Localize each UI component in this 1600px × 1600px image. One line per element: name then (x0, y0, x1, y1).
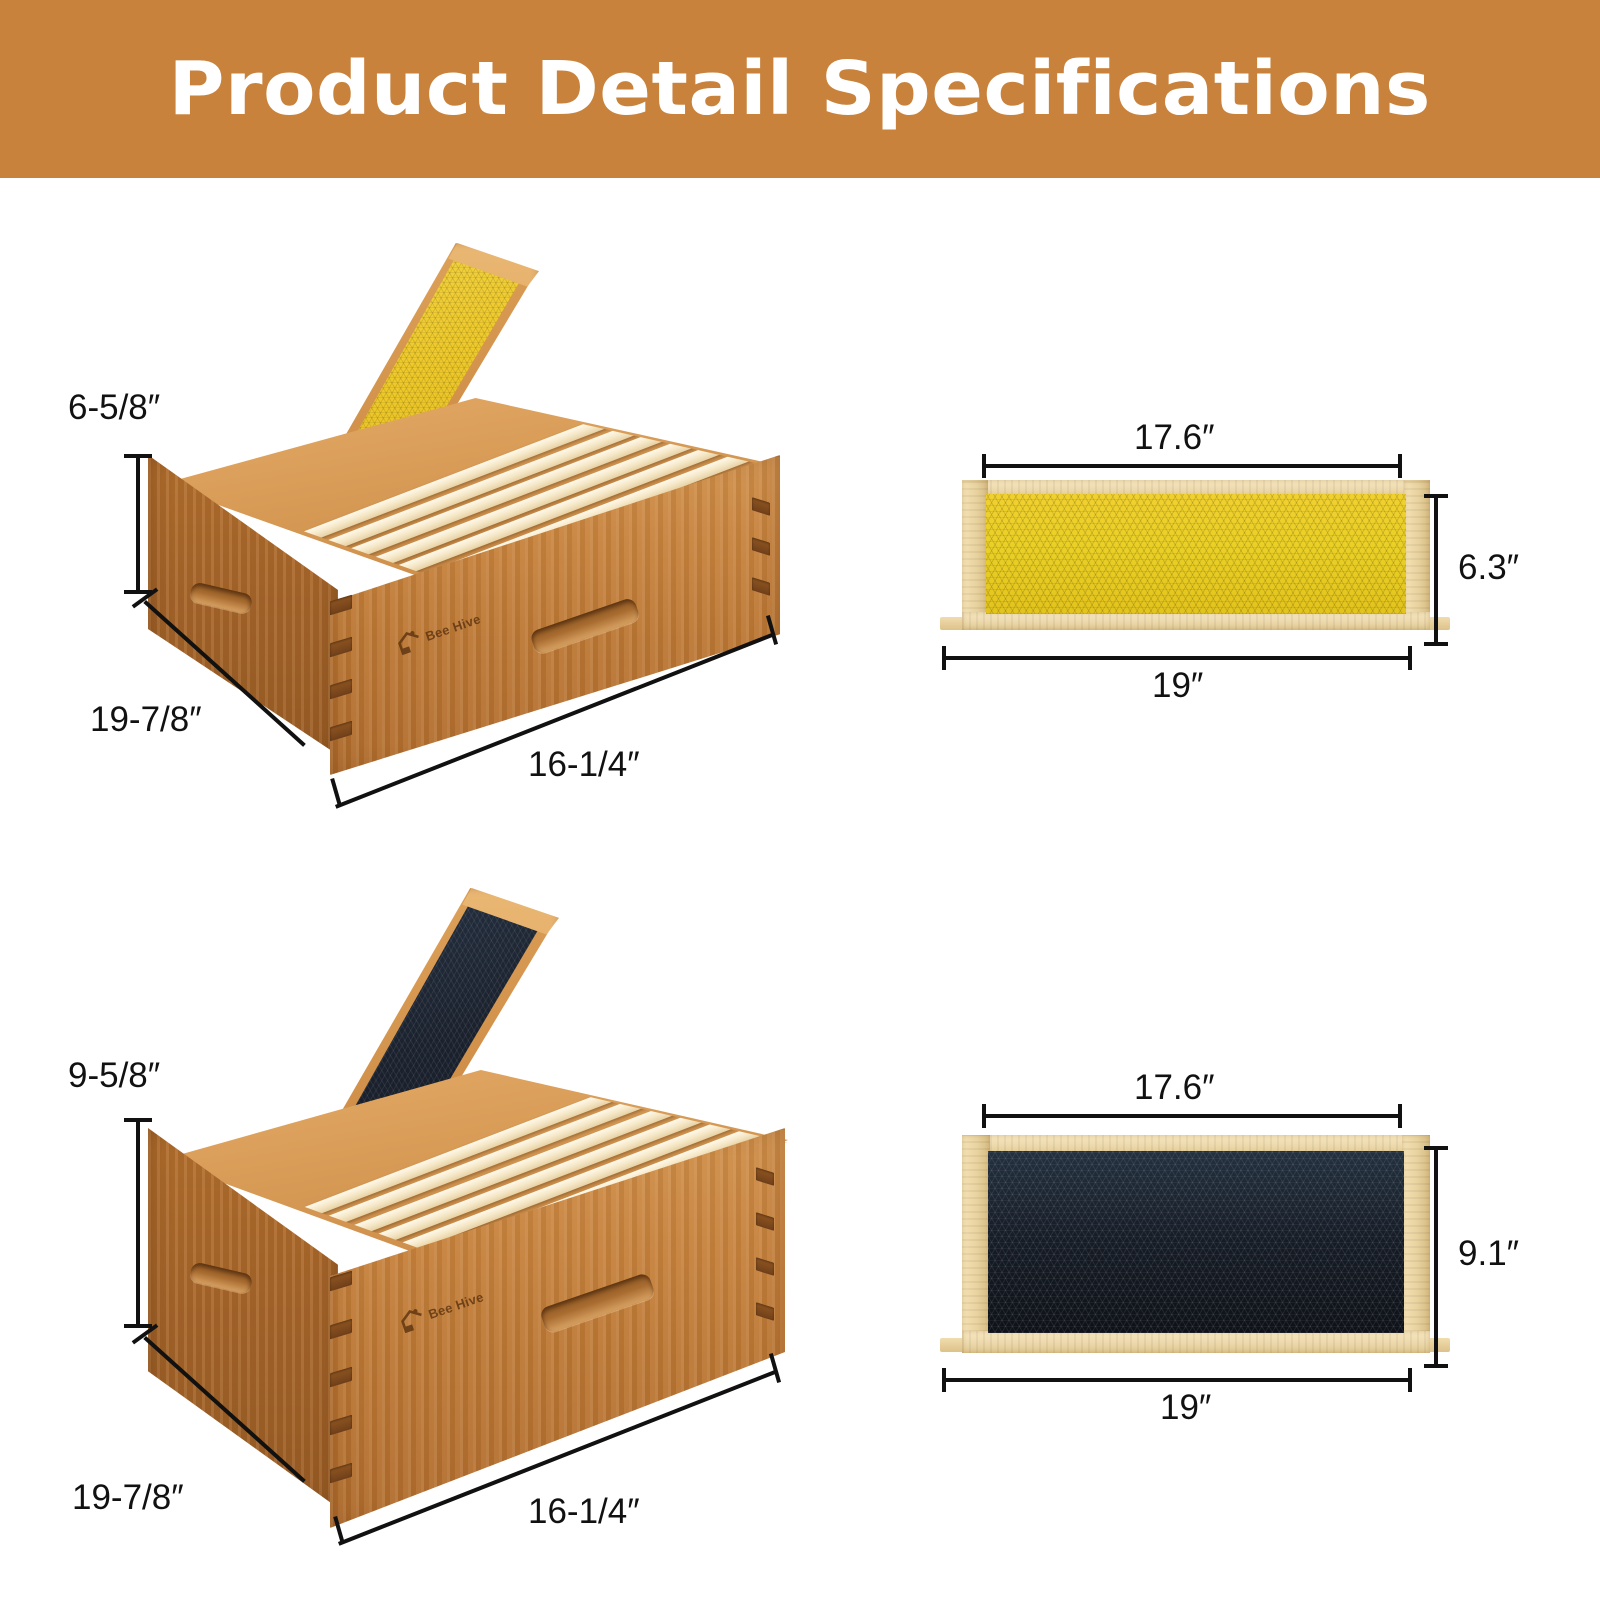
frame-bottom-bar (962, 612, 1430, 630)
deep-frame-height-tick-top (1424, 1146, 1448, 1150)
inner-width-tick-right (1398, 454, 1402, 478)
outer-width-tick-right (1408, 646, 1412, 670)
medium-frame-illustration (940, 480, 1460, 650)
deep-inner-width-dimension-line (982, 1114, 1402, 1118)
frame-foundation-yellow (986, 494, 1406, 614)
deep-frame-height-dimension-line (1434, 1146, 1438, 1368)
medium-frame-height-label: 6.3″ (1458, 548, 1519, 588)
deep-outer-width-dimension-line (942, 1378, 1412, 1382)
height-dimension-line (136, 454, 140, 592)
medium-box-depth-label: 19-7/8″ (90, 700, 202, 740)
deep-outer-width-tick-right (1408, 1368, 1412, 1392)
outer-width-dimension-line (942, 656, 1412, 660)
frame-side-bar-left (962, 480, 988, 630)
deep-box-height-label: 9-5/8″ (68, 1056, 160, 1096)
outer-width-tick-left (942, 646, 946, 670)
medium-frame-inner-width-label: 17.6″ (1134, 418, 1215, 458)
deep-outer-width-tick-left (942, 1368, 946, 1392)
deep-height-dimension-line (136, 1118, 140, 1326)
deep-brood-box-illustration: Bee Hive (0, 870, 820, 1570)
specification-sheet: Product Detail Specifications (0, 0, 1600, 1600)
medium-box-height-label: 6-5/8″ (68, 388, 160, 428)
frame-side-bar-left (962, 1135, 990, 1353)
deep-height-tick-bottom (124, 1324, 152, 1328)
frame-bottom-bar (962, 1331, 1430, 1353)
deep-box-width-label: 16-1/4″ (528, 1492, 640, 1532)
medium-frame-outer-width-label: 19″ (1152, 666, 1203, 706)
frame-side-bar-right (1404, 480, 1430, 630)
inner-width-dimension-line (982, 464, 1402, 468)
frame-foundation-dark (988, 1151, 1404, 1333)
deep-frame-illustration (940, 1135, 1460, 1375)
deep-inner-width-tick-right (1398, 1104, 1402, 1128)
medium-super-box-illustration: Bee Hive (0, 0, 820, 620)
frame-height-dimension-line (1434, 494, 1438, 646)
deep-frame-outer-width-label: 19″ (1160, 1388, 1211, 1428)
deep-frame-inner-width-label: 17.6″ (1134, 1068, 1215, 1108)
deep-frame-height-tick-bottom (1424, 1364, 1448, 1368)
frame-height-tick-top (1424, 494, 1448, 498)
inner-width-tick-left (982, 454, 986, 478)
width-dimension-tick-left (330, 778, 342, 806)
deep-inner-width-tick-left (982, 1104, 986, 1128)
deep-frame-height-label: 9.1″ (1458, 1234, 1519, 1274)
frame-side-bar-right (1402, 1135, 1430, 1353)
medium-box-width-label: 16-1/4″ (528, 745, 640, 785)
frame-height-tick-bottom (1424, 642, 1448, 646)
deep-box-depth-label: 19-7/8″ (72, 1478, 184, 1518)
